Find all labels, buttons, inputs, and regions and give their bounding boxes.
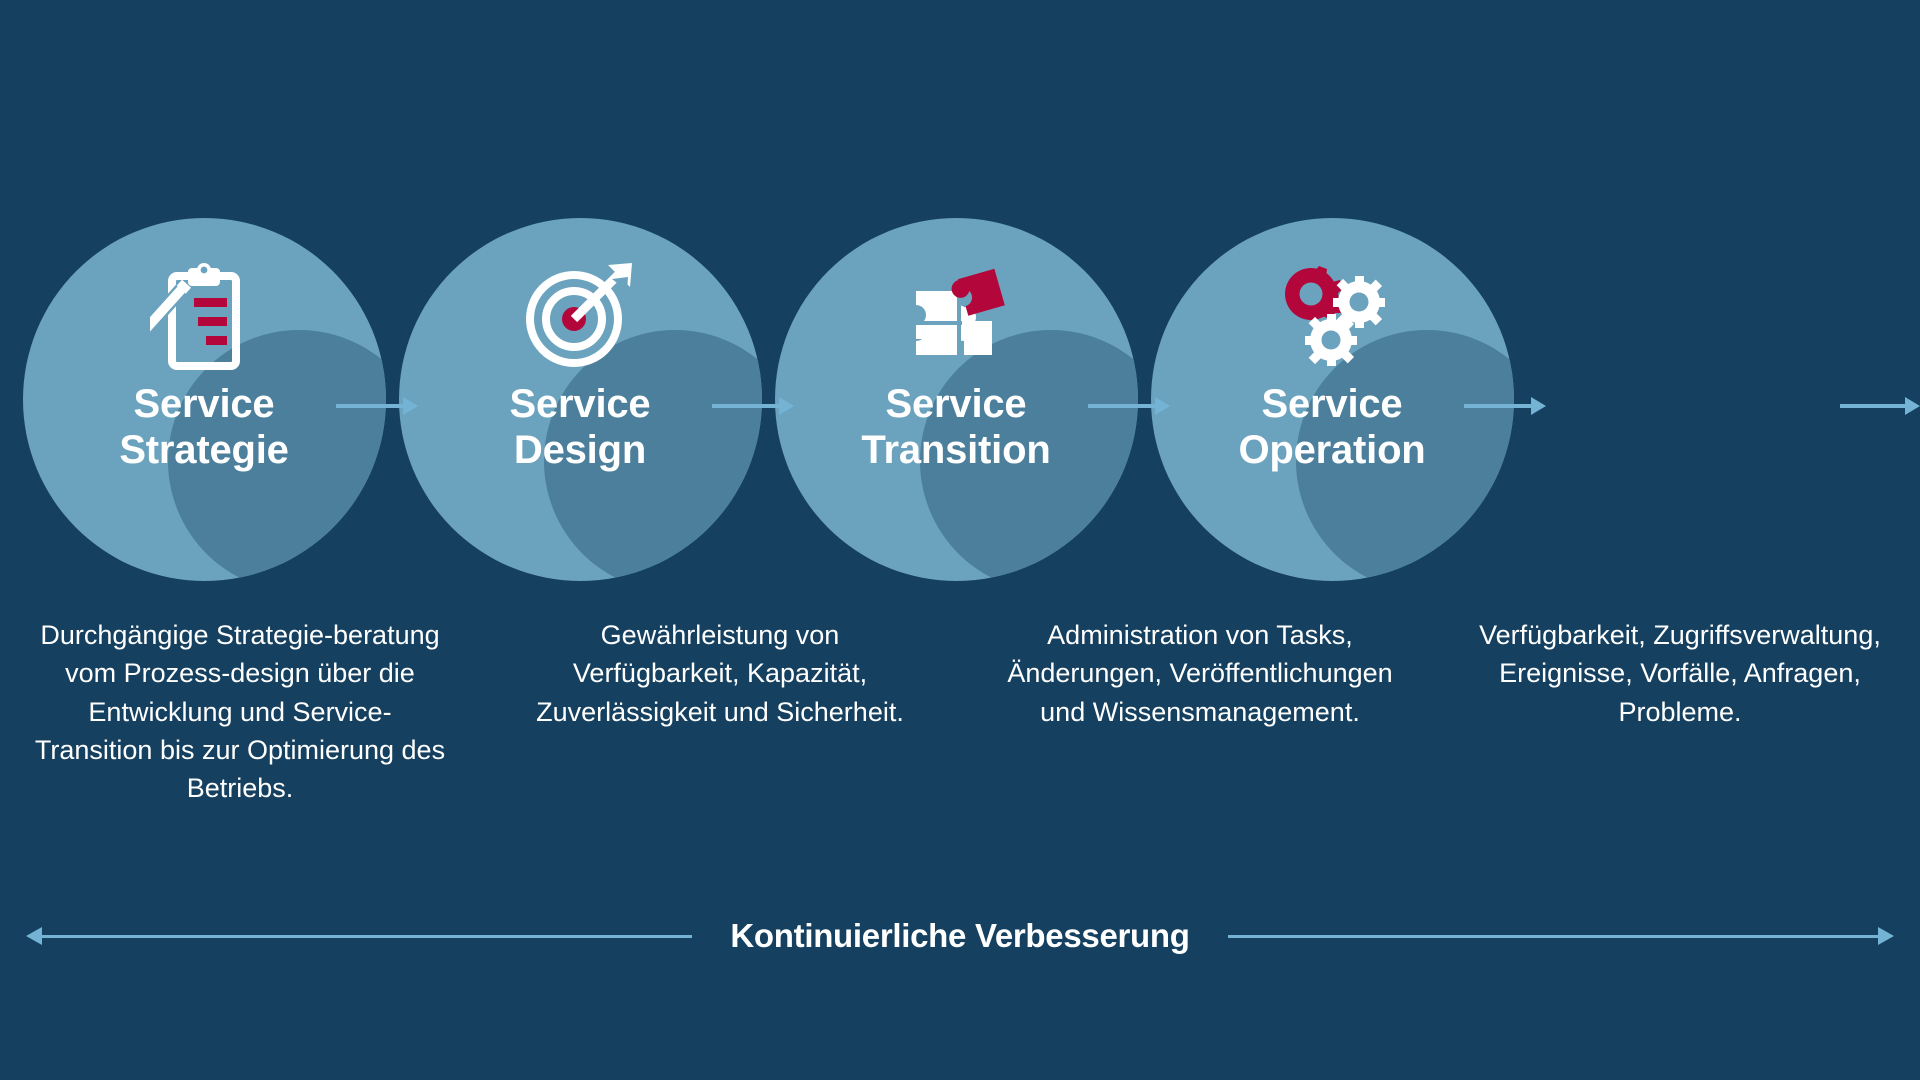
stage-description-service-strategie: Durchgängige Strategie-beratung vom Proz… bbox=[0, 616, 480, 808]
stage-title-line-2: Design bbox=[415, 428, 745, 474]
description-text: Verfügbarkeit, Zugriffsverwaltung, Ereig… bbox=[1474, 616, 1886, 731]
description-text: Durchgängige Strategie-beratung vom Proz… bbox=[34, 616, 446, 808]
stage-circle-service-operation[interactable]: Service Operation bbox=[1151, 218, 1514, 581]
stage-circle-row: Service Strategie bbox=[0, 218, 1920, 598]
arrow-shaft bbox=[712, 404, 779, 408]
stage-circle-service-transition[interactable]: Service Transition bbox=[775, 218, 1138, 581]
stage-cell-service-operation: Service Operation bbox=[1150, 218, 1514, 598]
stage-cell-service-design: Service Design bbox=[398, 218, 762, 598]
arrow-head-icon bbox=[1905, 397, 1920, 415]
arrow-head-left-icon bbox=[26, 927, 42, 945]
stage-title-service-design: Service Design bbox=[415, 382, 745, 473]
connector-arrow-2 bbox=[712, 400, 794, 412]
connector-arrow-4 bbox=[1464, 400, 1546, 412]
stage-cell-service-strategie: Service Strategie bbox=[22, 218, 386, 598]
clipboard-pencil-icon bbox=[150, 256, 258, 374]
stage-title-line-1: Service bbox=[415, 382, 745, 428]
stage-circle-service-strategie[interactable]: Service Strategie bbox=[23, 218, 386, 581]
arrow-head-right-icon bbox=[1878, 927, 1894, 945]
stage-title-line-1: Service bbox=[1167, 382, 1497, 428]
stage-description-service-design: Gewährleistung von Verfügbarkeit, Kapazi… bbox=[480, 616, 960, 808]
stage-title-line-1: Service bbox=[791, 382, 1121, 428]
stage-title-line-2: Transition bbox=[791, 428, 1121, 474]
improvement-line-left bbox=[42, 935, 692, 938]
connector-arrow-3 bbox=[1088, 400, 1170, 412]
arrow-head-icon bbox=[403, 397, 418, 415]
continuous-improvement-label: Kontinuierliche Verbesserung bbox=[692, 917, 1227, 955]
arrow-head-icon bbox=[1531, 397, 1546, 415]
stage-cell-service-transition: Service Transition bbox=[774, 218, 1138, 598]
stage-description-row: Durchgängige Strategie-beratung vom Proz… bbox=[0, 616, 1920, 808]
connector-arrow-1 bbox=[336, 400, 418, 412]
arrow-shaft bbox=[336, 404, 403, 408]
stage-title-service-operation: Service Operation bbox=[1167, 382, 1497, 473]
description-text: Gewährleistung von Verfügbarkeit, Kapazi… bbox=[514, 616, 926, 731]
lifecycle-diagram: Service Strategie bbox=[0, 0, 1920, 1080]
puzzle-pieces-icon bbox=[900, 256, 1012, 374]
continuous-improvement-bar: Kontinuierliche Verbesserung bbox=[0, 908, 1920, 964]
stage-title-service-transition: Service Transition bbox=[791, 382, 1121, 473]
arrow-shaft bbox=[1088, 404, 1155, 408]
stage-description-service-transition: Administration von Tasks, Änderungen, Ve… bbox=[960, 616, 1440, 808]
target-dart-icon bbox=[524, 256, 636, 374]
description-text: Administration von Tasks, Änderungen, Ve… bbox=[994, 616, 1406, 731]
arrow-head-icon bbox=[1155, 397, 1170, 415]
arrow-head-icon bbox=[779, 397, 794, 415]
stage-title-line-2: Operation bbox=[1167, 428, 1497, 474]
stage-title-line-2: Strategie bbox=[39, 428, 369, 474]
arrow-shaft bbox=[1840, 404, 1905, 408]
stage-title-service-strategie: Service Strategie bbox=[39, 382, 369, 473]
gears-icon bbox=[1273, 256, 1391, 374]
improvement-line-right bbox=[1228, 935, 1878, 938]
stage-description-service-operation: Verfügbarkeit, Zugriffsverwaltung, Ereig… bbox=[1440, 616, 1920, 808]
stage-title-line-1: Service bbox=[39, 382, 369, 428]
arrow-shaft bbox=[1464, 404, 1531, 408]
stage-circle-service-design[interactable]: Service Design bbox=[399, 218, 762, 581]
connector-arrow-5 bbox=[1840, 400, 1920, 412]
